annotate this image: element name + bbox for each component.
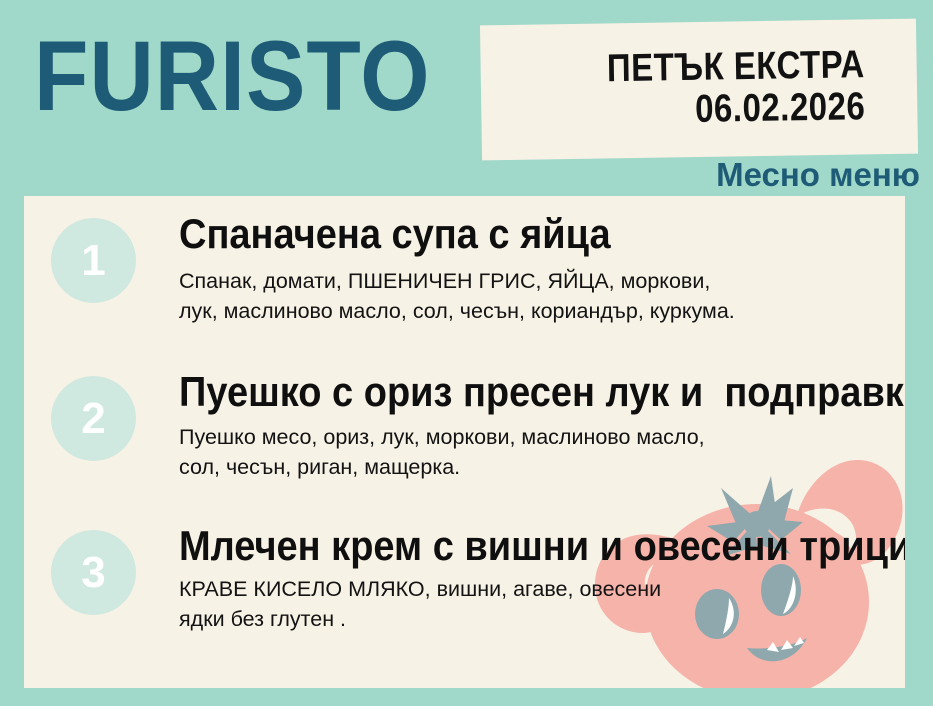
poster-header: FURISTO ПЕТЪК ЕКСТРА 06.02.2026 Месно ме… — [0, 0, 933, 196]
menu-item-number-badge: 2 — [51, 376, 136, 461]
menu-item-number-badge: 1 — [51, 218, 136, 303]
menu-item-title: Спаначена супа с яйца — [179, 214, 905, 258]
menu-item-ingredients: Пуешко месо, ориз, лук, моркови, маслино… — [179, 422, 905, 483]
menu-item-title: Пуешко с ориз пресен лук и подправки — [179, 372, 905, 416]
menu-item-ingredients: Спанак, домати, ПШЕНИЧЕН ГРИС, ЯЙЦА, мор… — [179, 266, 905, 327]
menu-subtitle: Месно меню — [716, 158, 920, 191]
date-card: ПЕТЪК ЕКСТРА 06.02.2026 — [480, 19, 918, 161]
brand-logo: FURISTO — [34, 26, 431, 125]
menu-poster: FURISTO ПЕТЪК ЕКСТРА 06.02.2026 Месно ме… — [0, 0, 933, 706]
menu-item-content: Пуешко с ориз пресен лук и подправки Пуе… — [179, 372, 905, 483]
menu-item-number-badge: 3 — [51, 530, 136, 615]
menu-item-content: Спаначена супа с яйца Спанак, домати, ПШ… — [179, 214, 905, 327]
menu-item-ingredients: КРАВЕ КИСЕЛО МЛЯКО, вишни, агаве, овесен… — [179, 574, 905, 635]
menu-item-content: Млечен крем с вишни и овесени трици КРАВ… — [179, 526, 905, 635]
menu-panel: 1 Спаначена супа с яйца Спанак, домати, … — [24, 196, 905, 688]
date-card-text: ПЕТЪК ЕКСТРА 06.02.2026 — [607, 39, 866, 128]
menu-item-title: Млечен крем с вишни и овесени трици — [179, 526, 905, 570]
promo-date: 06.02.2026 — [607, 82, 865, 136]
